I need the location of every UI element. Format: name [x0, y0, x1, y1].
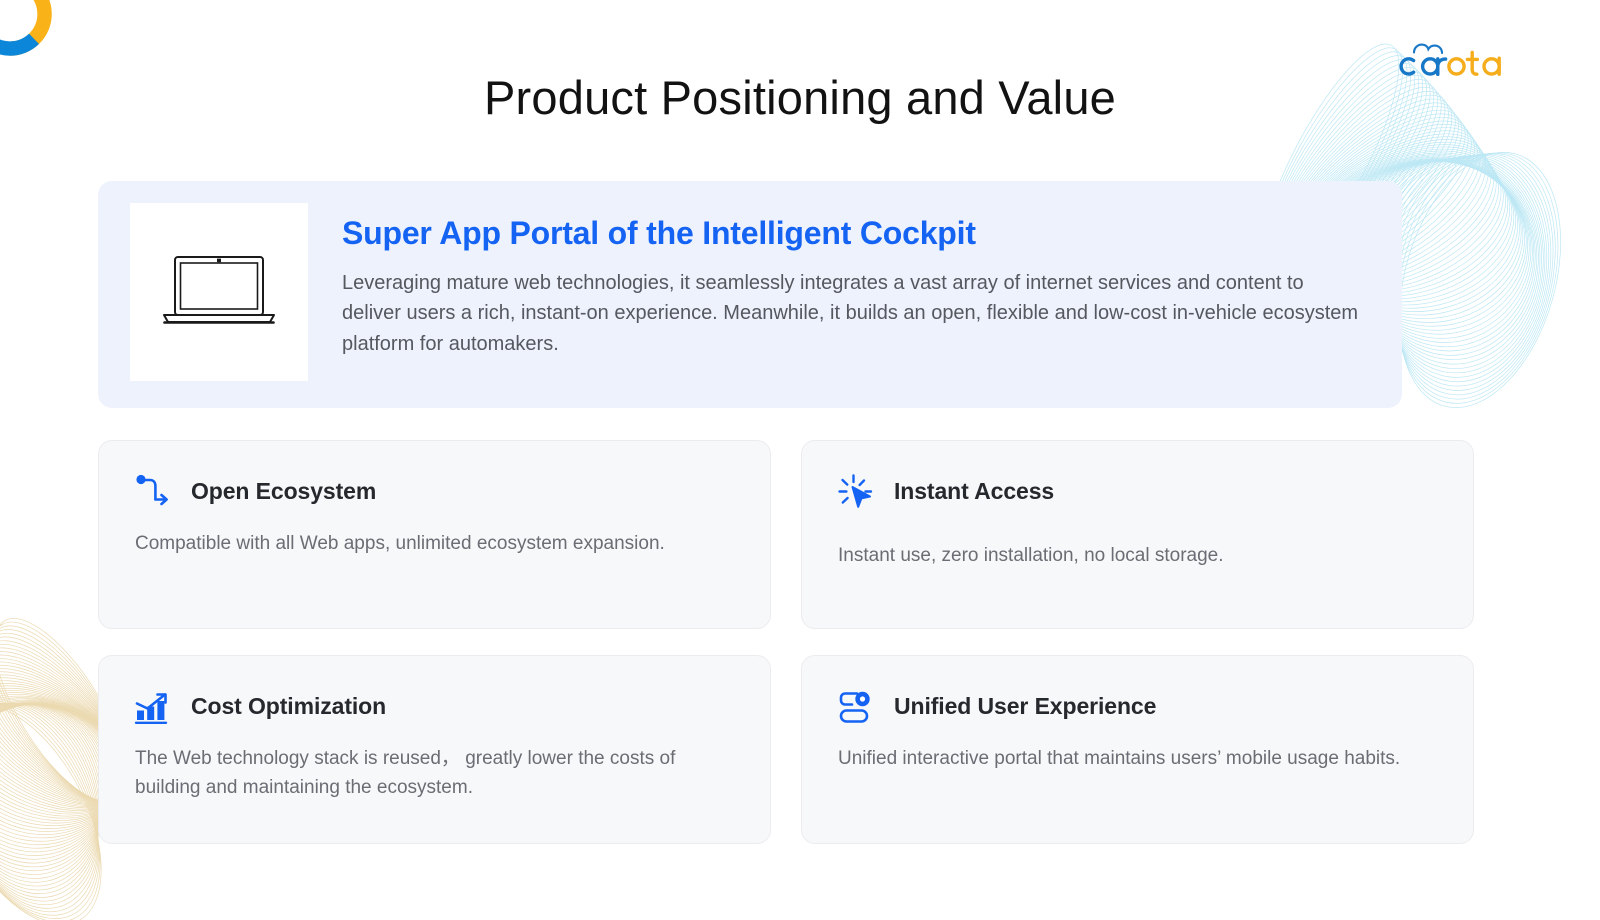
feature-body: Compatible with all Web apps, unlimited …	[135, 529, 715, 558]
feature-header: Instant Access	[836, 471, 1445, 513]
decorative-ring	[0, 0, 58, 62]
feature-grid: Open Ecosystem Compatible with all Web a…	[98, 440, 1474, 844]
branch-arrow-icon	[133, 471, 175, 513]
click-cursor-icon	[836, 471, 878, 513]
feature-title: Unified User Experience	[894, 694, 1156, 719]
feature-title: Cost Optimization	[191, 694, 386, 719]
feature-card-unified-user-experience[interactable]: Unified User Experience Unified interact…	[801, 655, 1474, 844]
bar-chart-growth-icon	[133, 686, 175, 728]
hero-card: Super App Portal of the Intelligent Cock…	[98, 181, 1402, 408]
feature-card-cost-optimization[interactable]: Cost Optimization The Web technology sta…	[98, 655, 771, 844]
feature-header: Cost Optimization	[133, 686, 742, 728]
hero-text-block: Super App Portal of the Intelligent Cock…	[342, 215, 1362, 359]
feature-header: Unified User Experience	[836, 686, 1445, 728]
feature-body: Unified interactive portal that maintain…	[838, 744, 1418, 773]
hero-body: Leveraging mature web technologies, it s…	[342, 268, 1362, 359]
feature-card-open-ecosystem[interactable]: Open Ecosystem Compatible with all Web a…	[98, 440, 771, 629]
feature-body: Instant use, zero installation, no local…	[838, 541, 1418, 570]
feature-body: The Web technology stack is reused， grea…	[135, 744, 715, 803]
feature-header: Open Ecosystem	[133, 471, 742, 513]
hero-icon-container	[130, 203, 308, 381]
laptop-icon	[160, 251, 278, 333]
feature-title: Instant Access	[894, 479, 1054, 504]
feature-title: Open Ecosystem	[191, 479, 376, 504]
hero-heading: Super App Portal of the Intelligent Cock…	[342, 215, 1362, 252]
feature-card-instant-access[interactable]: Instant Access Instant use, zero install…	[801, 440, 1474, 629]
unified-layout-icon	[836, 686, 878, 728]
page-title: Product Positioning and Value	[0, 72, 1600, 124]
